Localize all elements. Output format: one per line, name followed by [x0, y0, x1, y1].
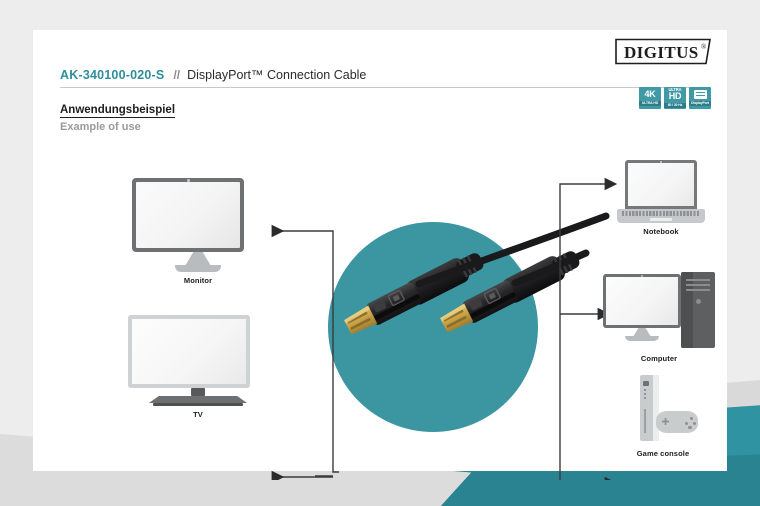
notebook-icon: [601, 160, 721, 223]
device-tv: TV: [128, 315, 268, 419]
section-title-de: Anwendungsbeispiel: [60, 103, 175, 118]
badge-4k-ultra-hd: 4K ULTRA HD: [639, 87, 661, 109]
device-label-computer: Computer: [596, 354, 722, 363]
desktop-computer-icon: [596, 272, 722, 350]
article-code: AK-340100-020-S: [60, 68, 164, 82]
device-notebook: Notebook: [601, 160, 721, 236]
header-separator: //: [173, 68, 180, 82]
game-console-icon: [611, 375, 715, 445]
badge-ultra-hd: ULTRA HD 60 / 30 Hz: [664, 87, 686, 109]
product-header: AK-340100-020-S // DisplayPort™ Connecti…: [60, 68, 700, 88]
device-label-game-console: Game console: [611, 449, 715, 458]
svg-text:®: ®: [701, 43, 707, 51]
badge-hd-label: HD: [669, 92, 681, 101]
feature-badges: 4K ULTRA HD ULTRA HD 60 / 30 Hz DisplayP…: [639, 87, 711, 109]
monitor-icon: [132, 178, 264, 272]
badge-displayport: DisplayPort: [689, 87, 711, 109]
section-heading: Anwendungsbeispiel Example of use: [60, 100, 175, 133]
device-game-console: Game console: [611, 375, 715, 458]
section-title-en: Example of use: [60, 121, 175, 133]
digitus-logo: DIGITUS ®: [615, 38, 711, 65]
product-title: DisplayPort™ Connection Cable: [187, 68, 366, 82]
device-label-notebook: Notebook: [601, 227, 721, 236]
badge-4k-label: 4K: [645, 90, 656, 99]
device-computer: Computer: [596, 272, 722, 363]
badge-4k-sublabel: ULTRA HD: [639, 101, 661, 106]
badge-dp-sublabel: DisplayPort: [689, 101, 711, 106]
badge-hd-sublabel: 60 / 30 Hz: [664, 103, 686, 108]
tv-icon: [128, 315, 268, 406]
displayport-connector-icon: [694, 90, 707, 99]
device-label-monitor: Monitor: [132, 276, 264, 285]
content-sheet: DIGITUS ® AK-340100-020-S // DisplayPort…: [33, 30, 727, 471]
device-label-tv: TV: [128, 410, 268, 419]
datasheet-page: DIGITUS ® AK-340100-020-S // DisplayPort…: [0, 0, 760, 506]
connection-diagram: Monitor TV Notebook: [66, 150, 760, 480]
device-monitor: Monitor: [132, 178, 264, 285]
svg-text:DIGITUS: DIGITUS: [624, 43, 699, 62]
